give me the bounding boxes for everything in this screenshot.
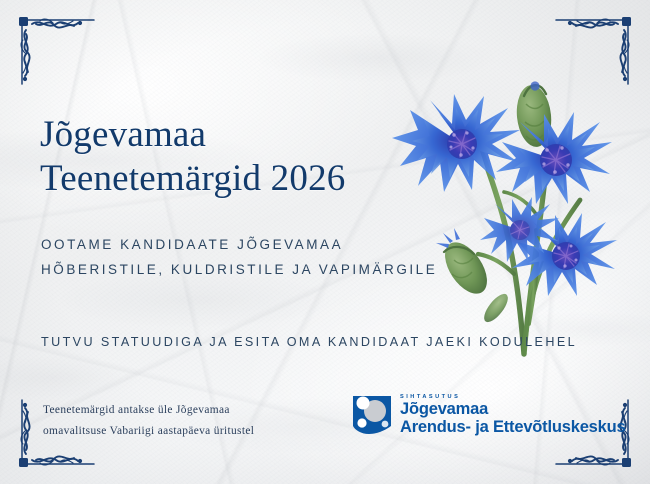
logo-line-two: Arendus- ja Ettevõtluskeskus bbox=[400, 418, 625, 436]
page-title: Jõgevamaa Teenetemärgid 2026 bbox=[40, 113, 345, 201]
poster-canvas: Jõgevamaa Teenetemärgid 2026 OOTAME KAND… bbox=[0, 0, 650, 484]
logo-wordmark: SIHTASUTUS Jõgevamaa Arendus- ja Ettevõt… bbox=[400, 394, 625, 436]
organization-logo: SIHTASUTUS Jõgevamaa Arendus- ja Ettevõt… bbox=[351, 392, 625, 438]
poster-call-to-action: TUTVU STATUUDIGA JA ESITA OMA KANDIDAAT … bbox=[41, 335, 577, 349]
poster-fineprint: Teenetemärgid antakse üle Jõgevamaa omav… bbox=[43, 400, 254, 442]
poster-subtitle: OOTAME KANDIDAATE JÕGEVAMAA HÕBERISTILE,… bbox=[41, 232, 437, 282]
corner-ornament-top-left-icon bbox=[10, 8, 96, 90]
jaek-logo-mark-icon bbox=[351, 392, 393, 438]
cornflower-bouquet-icon bbox=[374, 24, 650, 364]
logo-line-one: Jõgevamaa bbox=[400, 401, 625, 418]
